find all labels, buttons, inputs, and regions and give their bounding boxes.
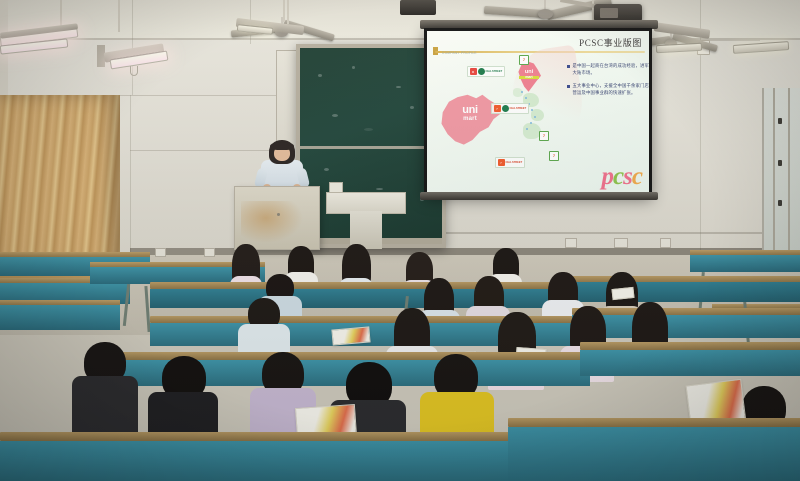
slide-bullet-list: 是中国一起商在台湾的成功经验，进军大陆市场。 五大事业中心，支援全中国千余家门店… [567,63,649,104]
chip-label: CHA-STREET [506,161,523,164]
wall-outlet[interactable] [660,238,671,248]
store-logo-chip: 7 CHA-STREET [495,157,525,168]
wordmark-letter-s: s [623,163,632,190]
bullet-text: 五大事业中心，支援全中国千余家门店营运及中国事业群的快速扩张。 [573,83,650,96]
screen-weight-bar[interactable] [420,192,658,200]
bullet-text: 是中国一起商在台湾的成功经验，进军大陆市场。 [573,63,650,76]
unimart-mart-text: mart [447,116,493,122]
island-blob [531,109,544,121]
window[interactable] [762,88,800,258]
coffee-badge-icon [478,68,485,75]
map-taiwan-label: uni mart [519,70,539,79]
bench-row [560,276,800,302]
slide-subtag: COMPANY PROFILE [442,51,477,55]
store-logo-chip: 7 CHA-STREET [491,103,529,114]
fan-blade [484,6,546,18]
bench-empty [690,250,800,272]
pcsc-wordmark: pcsc [602,164,642,189]
chip-label: CHA-STREET [510,107,527,110]
unimart-uni-text: uni [447,105,493,116]
unimart-mart-text: mart [519,76,539,79]
map-china-label: uni mart [447,105,493,122]
bullet-marker-icon [567,85,570,88]
seven-eleven-marker-icon: 7 [519,55,529,65]
seven-badge-icon: 7 [498,159,505,166]
wall-outlet[interactable] [565,238,577,248]
bench-row [580,342,800,376]
light-hanger [118,0,120,32]
window-latch[interactable] [778,200,782,206]
wordmark-letter-c1: c [613,163,623,190]
projection-screen: PCSC事业版图 COMPANY PROFILE uni mart uni ma… [424,28,652,196]
slide-title: PCSC事业版图 [579,36,642,49]
seven-badge-icon: 7 [494,105,501,112]
lecture-hall-screenshot: PCSC事业版图 COMPANY PROFILE uni mart uni ma… [0,0,800,481]
light-hanger [287,0,289,24]
chip-label: CHA-STREET [486,70,503,73]
window-latch[interactable] [778,160,782,166]
bench-row [0,432,520,481]
store-logo-chip: M CHA-STREET [467,66,505,77]
student [72,342,138,442]
slide-content: PCSC事业版图 COMPANY PROFILE uni mart uni ma… [427,31,649,193]
podium-stain [241,201,303,243]
fan-hub [538,9,553,19]
light-hook [130,66,138,76]
coffee-badge-icon [502,105,509,112]
podium-knob[interactable] [277,213,280,216]
wall-outlet[interactable] [155,248,166,257]
wall-speaker [400,0,436,15]
handout-paper[interactable] [331,326,370,345]
light-hanger [283,0,285,22]
wall-seam [130,95,131,255]
list-item: 是中国一起商在台湾的成功经验，进军大陆市场。 [567,63,649,76]
bench-empty [0,300,120,330]
window-mullion [773,88,775,258]
blackboard-divider [300,146,442,149]
handout-paper[interactable] [611,287,634,300]
seven-eleven-marker-icon: 7 [549,151,559,161]
wordmark-letter-p: p [602,163,614,190]
projector-lens [600,8,618,18]
presenter-hair-fringe [270,142,294,150]
list-item: 五大事业中心，支援全中国千余家门店营运及中国事业群的快速扩张。 [567,83,649,96]
unimart-badge-icon: M [470,68,477,75]
bullet-marker-icon [567,65,570,68]
wall-outlet[interactable] [614,238,628,248]
window-mullion [788,88,790,258]
presenter [255,140,309,192]
seven-eleven-marker-icon: 7 [539,131,549,141]
podium [234,186,320,250]
wall-outlet[interactable] [204,248,215,257]
wordmark-letter-c2: c [632,163,642,190]
bench-row [508,418,800,481]
window-latch[interactable] [778,118,782,124]
